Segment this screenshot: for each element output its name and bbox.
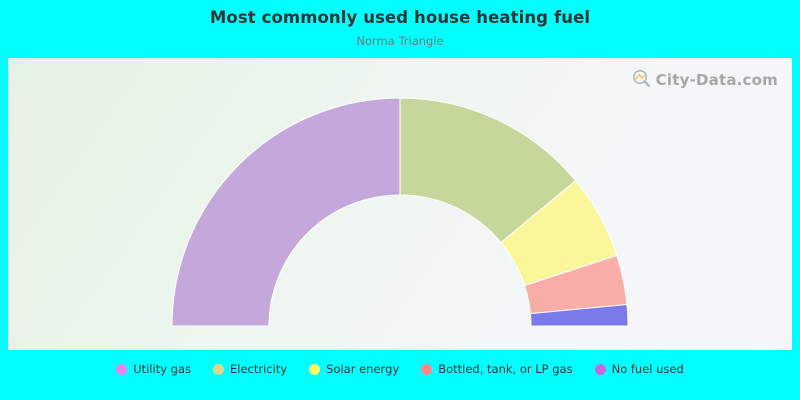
- legend-label-electricity: Electricity: [230, 362, 287, 376]
- legend-label-solar-energy: Solar energy: [326, 362, 399, 376]
- chart-plot-area: City-Data.com: [8, 58, 792, 350]
- legend-swatch-solar-energy: [309, 364, 320, 375]
- legend-label-bottled-tank-lp-gas: Bottled, tank, or LP gas: [438, 362, 572, 376]
- page-subtitle: Norma Triangle: [0, 34, 800, 48]
- page-title: Most commonly used house heating fuel: [0, 8, 800, 27]
- legend-swatch-no-fuel-used: [595, 364, 606, 375]
- legend-item-electricity[interactable]: Electricity: [213, 362, 287, 376]
- legend-item-bottled-tank-lp-gas[interactable]: Bottled, tank, or LP gas: [421, 362, 572, 376]
- gauge-slices: [172, 98, 628, 326]
- legend-swatch-electricity: [213, 364, 224, 375]
- legend-item-solar-energy[interactable]: Solar energy: [309, 362, 399, 376]
- legend-item-utility-gas[interactable]: Utility gas: [116, 362, 191, 376]
- legend-item-no-fuel-used[interactable]: No fuel used: [595, 362, 684, 376]
- chart-page: Most commonly used house heating fuel No…: [0, 0, 800, 400]
- legend-swatch-utility-gas: [116, 364, 127, 375]
- legend-label-utility-gas: Utility gas: [133, 362, 191, 376]
- gauge-chart: [8, 58, 792, 350]
- legend-swatch-bottled-tank-lp-gas: [421, 364, 432, 375]
- chart-legend: Utility gas Electricity Solar energy Bot…: [0, 362, 800, 376]
- legend-label-no-fuel-used: No fuel used: [612, 362, 684, 376]
- gauge-slice-utility-gas[interactable]: [172, 98, 400, 326]
